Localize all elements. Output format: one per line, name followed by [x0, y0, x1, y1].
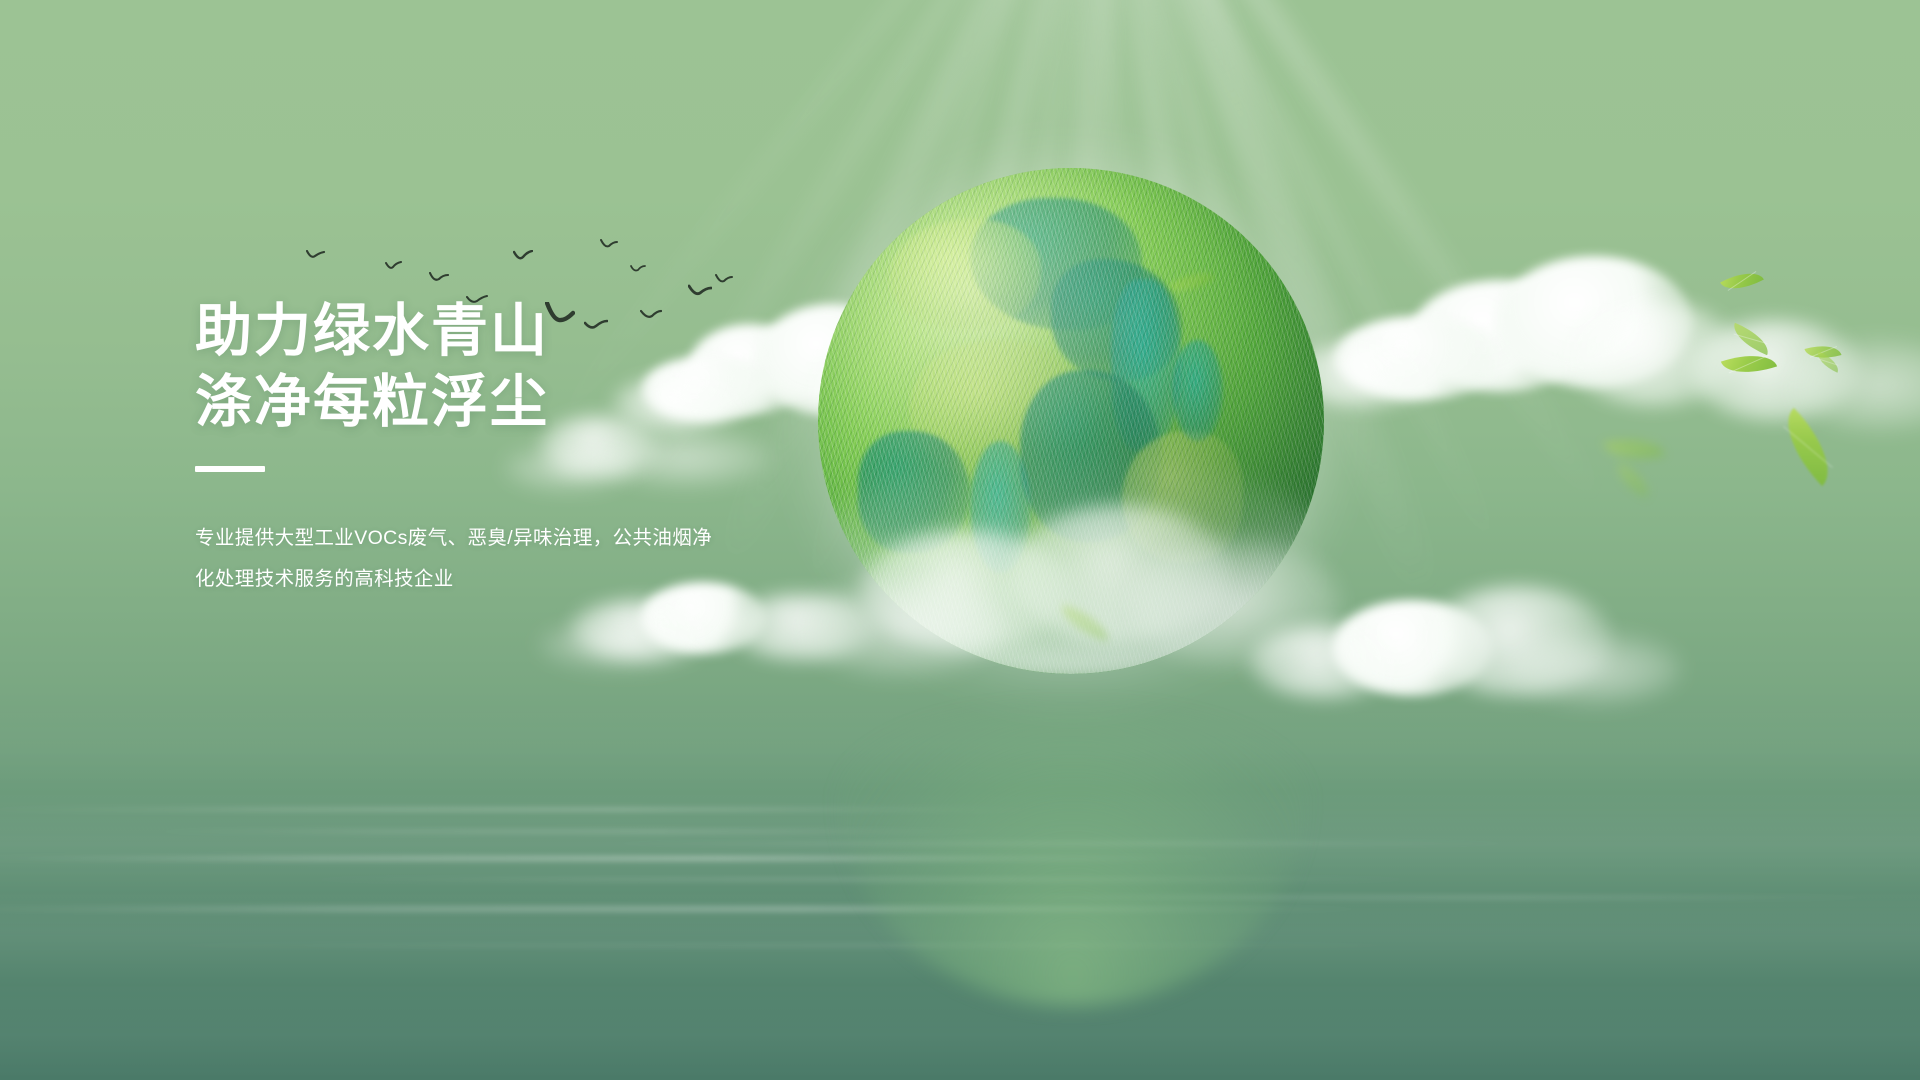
subtitle-line-1: 专业提供大型工业VOCs废气、恶臭/异味治理，公共油烟净: [195, 518, 915, 559]
bird-flock-icon: [513, 250, 533, 264]
headline-line-1: 助力绿水青山: [195, 296, 915, 367]
bird-flock-icon: [630, 264, 646, 275]
hero-banner: 助力绿水青山 涤净每粒浮尘 专业提供大型工业VOCs废气、恶臭/异味治理，公共油…: [0, 0, 1920, 1080]
title-divider: [195, 466, 265, 472]
hero-subtitle: 专业提供大型工业VOCs废气、恶臭/异味治理，公共油烟净 化处理技术服务的高科技…: [195, 518, 915, 600]
bird-flock-icon: [385, 261, 403, 273]
headline-line-2: 涤净每粒浮尘: [195, 367, 915, 438]
bird-flock-icon: [306, 250, 326, 263]
page-title: 助力绿水青山 涤净每粒浮尘: [195, 296, 915, 438]
bird-flock-icon: [429, 272, 449, 285]
hero-copy: 助力绿水青山 涤净每粒浮尘 专业提供大型工业VOCs废气、恶臭/异味治理，公共油…: [195, 296, 915, 600]
bird-flock-icon: [715, 274, 733, 286]
subtitle-line-2: 化处理技术服务的高科技企业: [195, 559, 915, 600]
bird-flock-icon: [600, 239, 618, 252]
